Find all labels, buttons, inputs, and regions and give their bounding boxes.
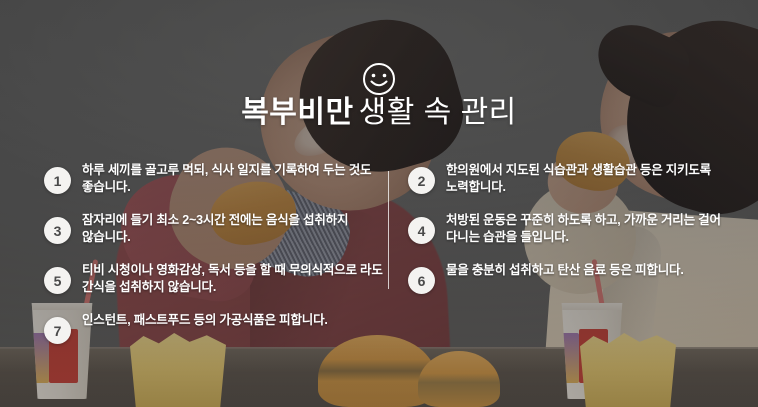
list-item: 1 하루 세끼를 골고루 먹되, 식사 일지를 기록하여 두는 것도 좋습니다. bbox=[44, 162, 384, 204]
tips-column-right: 2 한의원에서 지도된 식습관과 생활습관 등은 지키도록 노력합니다. 4 처… bbox=[408, 162, 746, 304]
tip-text: 하루 세끼를 골고루 먹되, 식사 일지를 기록하여 두는 것도 좋습니다. bbox=[82, 162, 384, 196]
tip-number-badge: 1 bbox=[44, 167, 71, 194]
list-item: 7 인스턴트, 패스트푸드 등의 가공식품은 피합니다. bbox=[44, 312, 384, 354]
tip-number-badge: 2 bbox=[408, 167, 435, 194]
page-title: 복부비만생활 속 관리 bbox=[0, 96, 758, 130]
tip-text: 인스턴트, 패스트푸드 등의 가공식품은 피합니다. bbox=[82, 312, 384, 329]
column-divider bbox=[388, 171, 389, 289]
tip-text: 한의원에서 지도된 식습관과 생활습관 등은 지키도록 노력합니다. bbox=[446, 162, 746, 196]
tip-number-badge: 4 bbox=[408, 217, 435, 244]
health-banner: 복부비만생활 속 관리 1 하루 세끼를 골고루 먹되, 식사 일지를 기록하여… bbox=[0, 0, 758, 407]
list-item: 5 티비 시청이나 영화감상, 독서 등을 할 때 무의식적으로 라도 간식을 … bbox=[44, 262, 384, 304]
list-item: 6 물을 충분히 섭취하고 탄산 음료 등은 피합니다. bbox=[408, 262, 746, 304]
list-item: 2 한의원에서 지도된 식습관과 생활습관 등은 지키도록 노력합니다. bbox=[408, 162, 746, 204]
tip-number-badge: 6 bbox=[408, 267, 435, 294]
tip-text: 물을 충분히 섭취하고 탄산 음료 등은 피합니다. bbox=[446, 262, 746, 279]
list-item: 3 잠자리에 들기 최소 2~3시간 전에는 음식을 섭취하지 않습니다. bbox=[44, 212, 384, 254]
tips-column-left: 1 하루 세끼를 골고루 먹되, 식사 일지를 기록하여 두는 것도 좋습니다.… bbox=[44, 162, 384, 354]
tip-number-badge: 5 bbox=[44, 267, 71, 294]
tip-text: 잠자리에 들기 최소 2~3시간 전에는 음식을 섭취하지 않습니다. bbox=[82, 212, 384, 246]
tip-number-badge: 7 bbox=[44, 317, 71, 344]
tip-text: 처방된 운동은 꾸준히 하도록 하고, 가까운 거리는 걸어 다니는 습관을 들… bbox=[446, 212, 746, 246]
smiley-face-icon bbox=[362, 62, 396, 96]
title-strong: 복부비만 bbox=[241, 96, 353, 129]
tip-text: 티비 시청이나 영화감상, 독서 등을 할 때 무의식적으로 라도 간식을 섭취… bbox=[82, 262, 384, 296]
tip-number-badge: 3 bbox=[44, 217, 71, 244]
banner-content: 복부비만생활 속 관리 1 하루 세끼를 골고루 먹되, 식사 일지를 기록하여… bbox=[0, 0, 758, 407]
title-light: 생활 속 관리 bbox=[359, 96, 517, 129]
list-item: 4 처방된 운동은 꾸준히 하도록 하고, 가까운 거리는 걸어 다니는 습관을… bbox=[408, 212, 746, 254]
